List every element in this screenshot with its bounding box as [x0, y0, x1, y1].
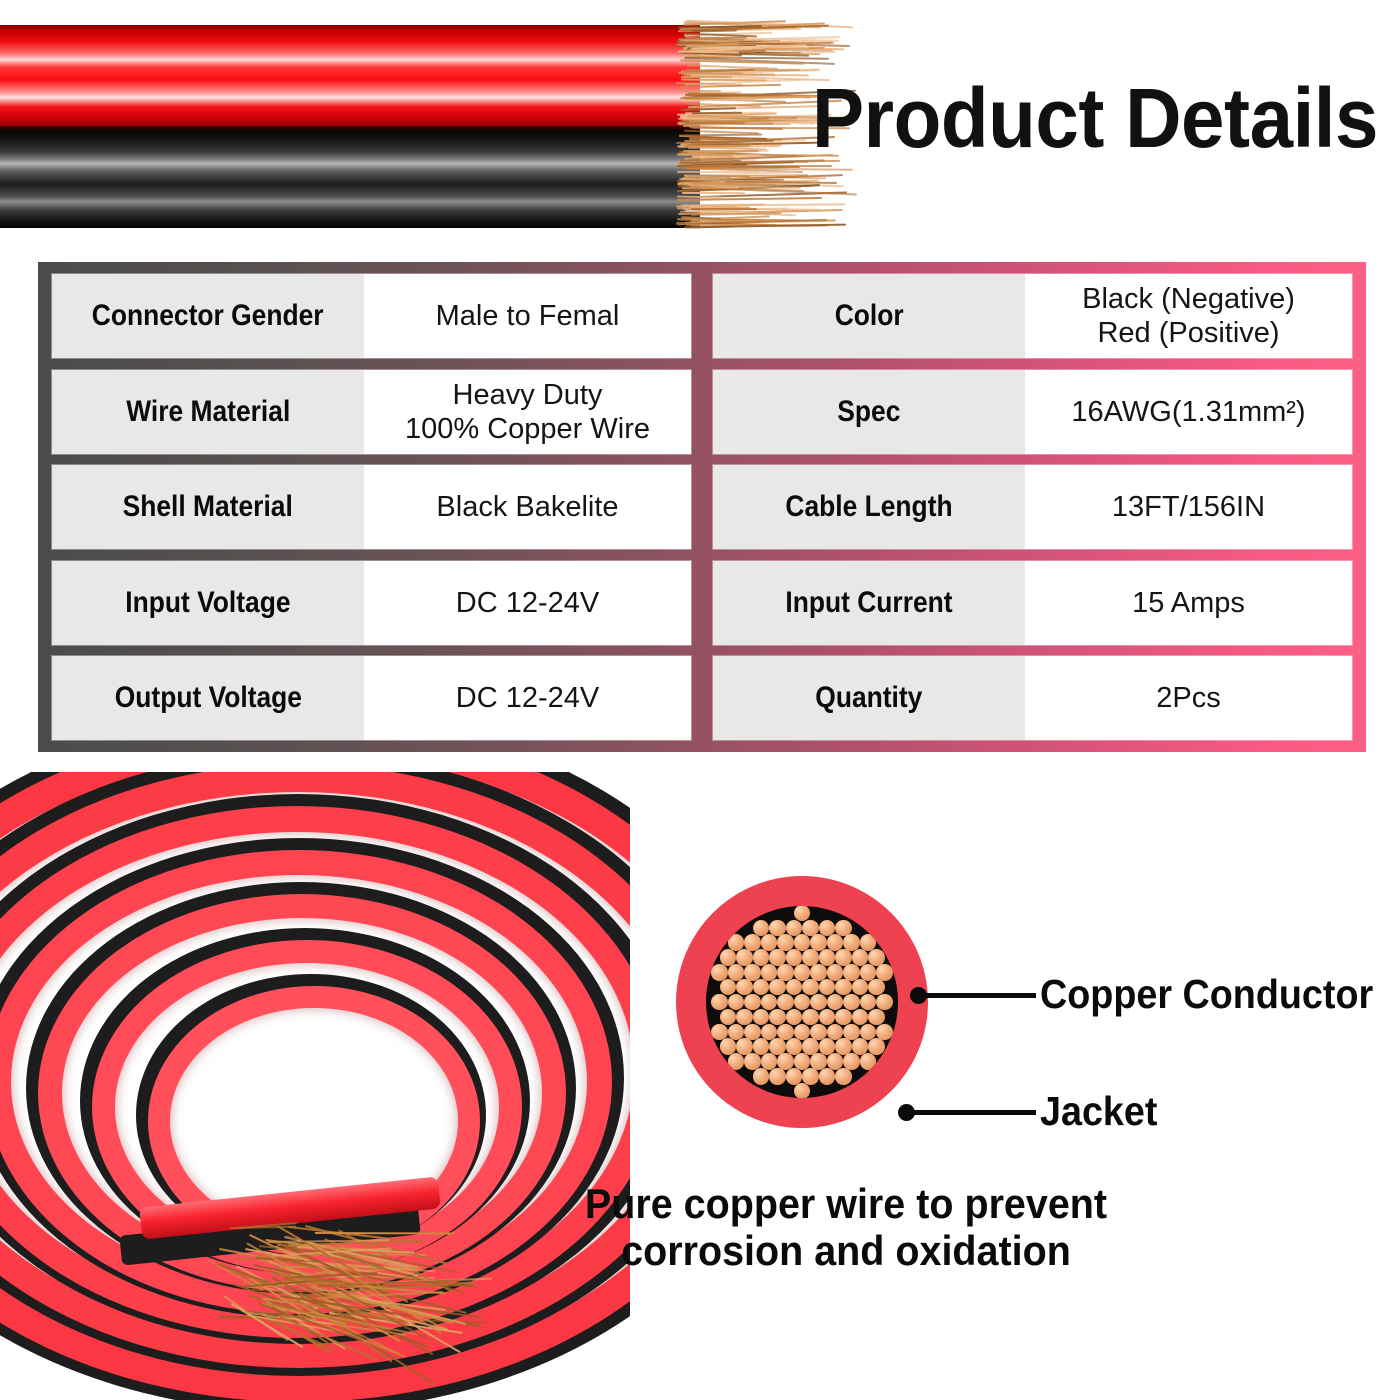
spec-label-text: Wire Material — [126, 395, 290, 429]
table-row: Connector GenderMale to Femal — [52, 274, 691, 358]
copper-strand-dot — [802, 1068, 819, 1085]
copper-strand-dot — [835, 1009, 852, 1026]
copper-conductor-label: Copper Conductor — [1040, 972, 1373, 1016]
spec-label-cell: Shell Material — [52, 465, 364, 549]
copper-strand-dot — [720, 1009, 737, 1026]
spec-value-cell: 16AWG(1.31mm²) — [1025, 370, 1352, 454]
spec-label-text: Color — [835, 299, 904, 333]
spec-label-text: Output Voltage — [114, 681, 301, 715]
jacket-callout-line — [906, 1110, 1036, 1115]
copper-strand-dot — [777, 964, 794, 981]
spec-label-text: Quantity — [815, 681, 922, 715]
copper-strand-dot — [711, 964, 728, 981]
spec-value-cell: Male to Femal — [364, 274, 691, 358]
copper-strand-dot — [769, 1068, 786, 1085]
black-wire-jacket — [0, 130, 700, 228]
table-row: Input Current15 Amps — [713, 561, 1352, 645]
cable-coil-icon — [0, 772, 630, 1400]
copper-strand-dot — [720, 979, 737, 996]
copper-strand-dot — [753, 1068, 770, 1085]
copper-strand-dot — [736, 1009, 753, 1026]
copper-strand-dot — [876, 964, 893, 981]
conductor-core — [706, 906, 898, 1098]
spec-label-cell: Wire Material — [52, 370, 364, 454]
copper-strand-dot — [728, 1053, 745, 1070]
spec-value-cell: DC 12-24V — [364, 561, 691, 645]
table-row: Quantity2Pcs — [713, 656, 1352, 740]
spec-label-text: Spec — [837, 395, 900, 429]
copper-strand-dot — [835, 1068, 852, 1085]
copper-strand-dot — [868, 1009, 885, 1026]
copper-strand-dot — [786, 979, 803, 996]
red-wire-jacket — [0, 25, 700, 130]
spec-label-text: Input Current — [785, 586, 952, 620]
spec-label-cell: Output Voltage — [52, 656, 364, 740]
spec-value-cell: 2Pcs — [1025, 656, 1352, 740]
spec-table: Connector GenderMale to FemalWire Materi… — [38, 262, 1366, 752]
wire-bundle-icon — [0, 0, 860, 250]
copper-strand-dot — [819, 979, 836, 996]
spec-label-cell: Input Voltage — [52, 561, 364, 645]
copper-strand-dot — [794, 994, 811, 1011]
spec-label-cell: Connector Gender — [52, 274, 364, 358]
copper-strand-dot — [827, 964, 844, 981]
copper-strand-dot — [769, 1009, 786, 1026]
spec-label-text: Input Voltage — [125, 586, 290, 620]
copper-strand-dot — [810, 964, 827, 981]
spec-table-left-column: Connector GenderMale to FemalWire Materi… — [52, 274, 691, 740]
copper-strand-dot — [860, 994, 877, 1011]
copper-strand-dot — [728, 964, 745, 981]
copper-strand-dot — [868, 979, 885, 996]
copper-strand-dot — [827, 994, 844, 1011]
cable-cross-section-icon — [676, 876, 928, 1128]
spec-label-cell: Spec — [713, 370, 1025, 454]
copper-strand-dot — [802, 1009, 819, 1026]
copper-strand-dot — [868, 1038, 885, 1055]
spec-label-text: Shell Material — [123, 490, 293, 524]
copper-strand-dot — [802, 979, 819, 996]
spec-label-cell: Input Current — [713, 561, 1025, 645]
copper-strand-dot — [711, 994, 728, 1011]
table-row: Input VoltageDC 12-24V — [52, 561, 691, 645]
table-row: Shell MaterialBlack Bakelite — [52, 465, 691, 549]
copper-strand-dot — [794, 964, 811, 981]
jacket-label: Jacket — [1040, 1089, 1157, 1133]
copper-strand-dot — [744, 994, 761, 1011]
copper-strand-dot — [786, 1068, 803, 1085]
copper-strand-dot — [761, 994, 778, 1011]
spec-label-cell: Cable Length — [713, 465, 1025, 549]
copper-strand-dot — [860, 964, 877, 981]
table-row: ColorBlack (Negative) Red (Positive) — [713, 274, 1352, 358]
spec-value-cell: Black (Negative) Red (Positive) — [1025, 274, 1352, 358]
copper-strand-dot — [843, 1053, 860, 1070]
copper-strand-dot — [819, 1009, 836, 1026]
copper-strand-dot — [769, 979, 786, 996]
copper-strand-dot — [753, 1009, 770, 1026]
spec-label-text: Cable Length — [785, 490, 952, 524]
bottom-caption: Pure copper wire to prevent corrosion an… — [583, 1180, 1109, 1274]
table-row: Spec16AWG(1.31mm²) — [713, 370, 1352, 454]
spec-value-cell: 15 Amps — [1025, 561, 1352, 645]
table-row: Output VoltageDC 12-24V — [52, 656, 691, 740]
copper-strand-dot — [753, 979, 770, 996]
spec-value-cell: 13FT/156IN — [1025, 465, 1352, 549]
copper-strand-dot — [786, 1009, 803, 1026]
copper-strand-dot — [761, 964, 778, 981]
spec-value-cell: Heavy Duty 100% Copper Wire — [364, 370, 691, 454]
copper-strand-dot — [835, 979, 852, 996]
copper-strand-dot — [819, 1068, 836, 1085]
copper-strand-dot — [794, 1083, 811, 1098]
table-row: Cable Length13FT/156IN — [713, 465, 1352, 549]
copper-strand-dot — [794, 906, 811, 921]
spec-table-right-column: ColorBlack (Negative) Red (Positive)Spec… — [713, 274, 1352, 740]
spec-value-cell: DC 12-24V — [364, 656, 691, 740]
copper-strand-dot — [852, 1009, 869, 1026]
copper-strand-dot — [843, 994, 860, 1011]
spec-label-cell: Quantity — [713, 656, 1025, 740]
copper-strand-dot — [744, 964, 761, 981]
spec-label-text: Connector Gender — [92, 299, 324, 333]
copper-strand-dot — [876, 994, 893, 1011]
copper-strand-dot — [736, 979, 753, 996]
copper-strand-dot — [728, 994, 745, 1011]
copper-strand-dot — [852, 979, 869, 996]
spec-label-cell: Color — [713, 274, 1025, 358]
page-title: Product Details — [812, 76, 1378, 160]
spec-value-cell: Black Bakelite — [364, 465, 691, 549]
copper-strand-dot — [777, 994, 794, 1011]
table-row: Wire MaterialHeavy Duty 100% Copper Wire — [52, 370, 691, 454]
copper-strand-dot — [860, 1053, 877, 1070]
copper-strand-dot — [810, 994, 827, 1011]
copper-strand-dot — [843, 964, 860, 981]
copper-conductor-callout-line — [918, 993, 1036, 998]
